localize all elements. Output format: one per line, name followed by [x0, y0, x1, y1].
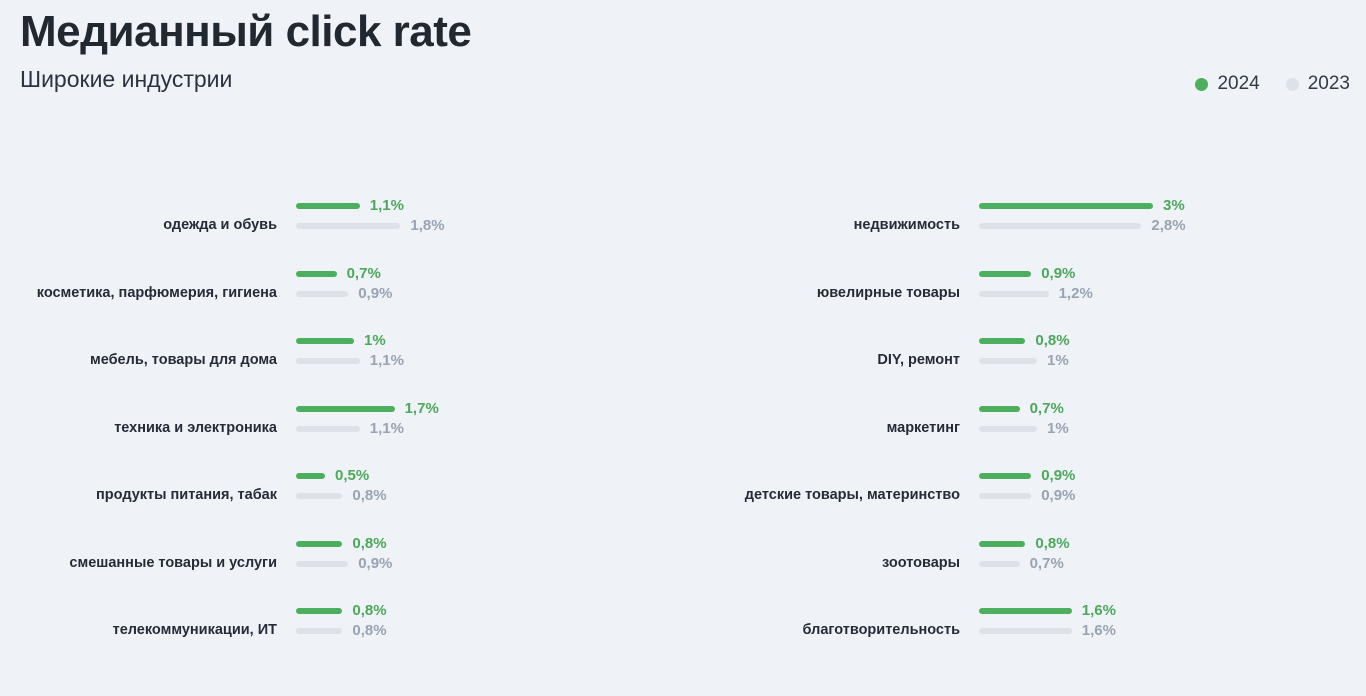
legend-item-2023[interactable]: 2023	[1286, 73, 1350, 95]
row-label: смешанные товары и услуги	[0, 553, 277, 573]
chart-row: DIY, ремонт0,8%1%	[683, 331, 1366, 399]
chart-row: недвижимость3%2,8%	[683, 196, 1366, 264]
row-label: продукты питания, табак	[0, 485, 277, 505]
left-column: одежда и обувь1,1%1,8%косметика, парфюме…	[0, 196, 683, 669]
bar-2023[interactable]	[979, 358, 1037, 364]
chart-legend: 2024 2023	[1195, 73, 1350, 95]
page-title: Медианный click rate	[20, 4, 471, 60]
bar-value-2023: 0,9%	[358, 284, 392, 304]
chart-row: мебель, товары для дома1%1,1%	[0, 331, 683, 399]
bar-2024[interactable]	[979, 541, 1025, 547]
bar-2024[interactable]	[979, 338, 1025, 344]
bar-2023[interactable]	[296, 426, 360, 432]
chart-row: детские товары, материнство0,9%0,9%	[683, 466, 1366, 534]
row-label: мебель, товары для дома	[0, 350, 277, 370]
bar-2024[interactable]	[296, 338, 354, 344]
row-label: благотворительность	[670, 620, 960, 640]
bar-value-2023: 2,8%	[1151, 216, 1185, 236]
bar-2024[interactable]	[979, 203, 1153, 209]
bar-2023[interactable]	[296, 493, 342, 499]
bar-value-2024: 1,6%	[1082, 601, 1116, 621]
bar-value-2024: 0,8%	[1035, 331, 1069, 351]
bar-value-2024: 0,7%	[1030, 399, 1064, 419]
bar-value-2024: 0,8%	[352, 534, 386, 554]
chart-header: Медианный click rate Широкие индустрии	[20, 4, 471, 94]
bar-value-2023: 1%	[1047, 351, 1069, 371]
bar-2024[interactable]	[296, 541, 342, 547]
bar-value-2023: 0,9%	[1041, 486, 1075, 506]
bar-2023[interactable]	[979, 223, 1141, 229]
bar-2023[interactable]	[296, 223, 400, 229]
bar-value-2023: 0,8%	[352, 486, 386, 506]
chart-row: смешанные товары и услуги0,8%0,9%	[0, 534, 683, 602]
bar-2023[interactable]	[979, 426, 1037, 432]
chart-row: благотворительность1,6%1,6%	[683, 601, 1366, 669]
legend-label-2023: 2023	[1308, 73, 1350, 95]
right-column: недвижимость3%2,8%ювелирные товары0,9%1,…	[683, 196, 1366, 669]
bar-2023[interactable]	[979, 493, 1031, 499]
bar-value-2023: 1,6%	[1082, 621, 1116, 641]
bar-value-2024: 0,9%	[1041, 466, 1075, 486]
bar-2024[interactable]	[979, 406, 1020, 412]
legend-label-2024: 2024	[1217, 73, 1259, 95]
row-label: ювелирные товары	[670, 283, 960, 303]
row-label: косметика, парфюмерия, гигиена	[0, 283, 277, 303]
chart-row: ювелирные товары0,9%1,2%	[683, 264, 1366, 332]
bar-2024[interactable]	[979, 473, 1031, 479]
bar-2023[interactable]	[296, 358, 360, 364]
legend-dot-2024-icon	[1195, 78, 1208, 91]
bar-value-2024: 0,7%	[347, 264, 381, 284]
bar-value-2024: 1,1%	[370, 196, 404, 216]
row-label: телекоммуникации, ИТ	[0, 620, 277, 640]
bar-2024[interactable]	[979, 608, 1072, 614]
bar-value-2023: 1,2%	[1059, 284, 1093, 304]
bar-2024[interactable]	[296, 608, 342, 614]
chart-row: маркетинг0,7%1%	[683, 399, 1366, 467]
bar-value-2023: 1%	[1047, 419, 1069, 439]
bar-2023[interactable]	[979, 628, 1072, 634]
bar-value-2024: 0,8%	[352, 601, 386, 621]
chart-row: зоотовары0,8%0,7%	[683, 534, 1366, 602]
bar-value-2024: 0,8%	[1035, 534, 1069, 554]
bar-2024[interactable]	[296, 203, 360, 209]
legend-dot-2023-icon	[1286, 78, 1299, 91]
chart-row: телекоммуникации, ИТ0,8%0,8%	[0, 601, 683, 669]
row-label: техника и электроника	[0, 418, 277, 438]
row-label: детские товары, материнство	[670, 485, 960, 505]
bar-value-2024: 3%	[1163, 196, 1185, 216]
legend-item-2024[interactable]: 2024	[1195, 73, 1259, 95]
bar-2024[interactable]	[979, 271, 1031, 277]
chart-row: продукты питания, табак0,5%0,8%	[0, 466, 683, 534]
chart-row: косметика, парфюмерия, гигиена0,7%0,9%	[0, 264, 683, 332]
page-subtitle: Широкие индустрии	[20, 64, 471, 94]
row-label: DIY, ремонт	[670, 350, 960, 370]
bar-value-2023: 1,1%	[370, 419, 404, 439]
bar-2023[interactable]	[296, 561, 348, 567]
chart-row: техника и электроника1,7%1,1%	[0, 399, 683, 467]
chart-page: Медианный click rate Широкие индустрии 2…	[0, 0, 1366, 696]
bar-value-2023: 0,9%	[358, 554, 392, 574]
bar-2023[interactable]	[979, 561, 1020, 567]
bar-value-2024: 0,9%	[1041, 264, 1075, 284]
chart-row: одежда и обувь1,1%1,8%	[0, 196, 683, 264]
bar-2023[interactable]	[979, 291, 1049, 297]
row-label: недвижимость	[670, 215, 960, 235]
bar-value-2024: 1,7%	[405, 399, 439, 419]
row-label: зоотовары	[670, 553, 960, 573]
bar-2024[interactable]	[296, 473, 325, 479]
bar-2023[interactable]	[296, 291, 348, 297]
row-label: одежда и обувь	[0, 215, 277, 235]
row-label: маркетинг	[670, 418, 960, 438]
bar-value-2023: 1,8%	[410, 216, 444, 236]
bar-2023[interactable]	[296, 628, 342, 634]
bar-value-2024: 0,5%	[335, 466, 369, 486]
bar-value-2023: 0,8%	[352, 621, 386, 641]
bar-value-2023: 1,1%	[370, 351, 404, 371]
bar-2024[interactable]	[296, 406, 395, 412]
bar-2024[interactable]	[296, 271, 337, 277]
bar-value-2024: 1%	[364, 331, 386, 351]
bar-value-2023: 0,7%	[1030, 554, 1064, 574]
